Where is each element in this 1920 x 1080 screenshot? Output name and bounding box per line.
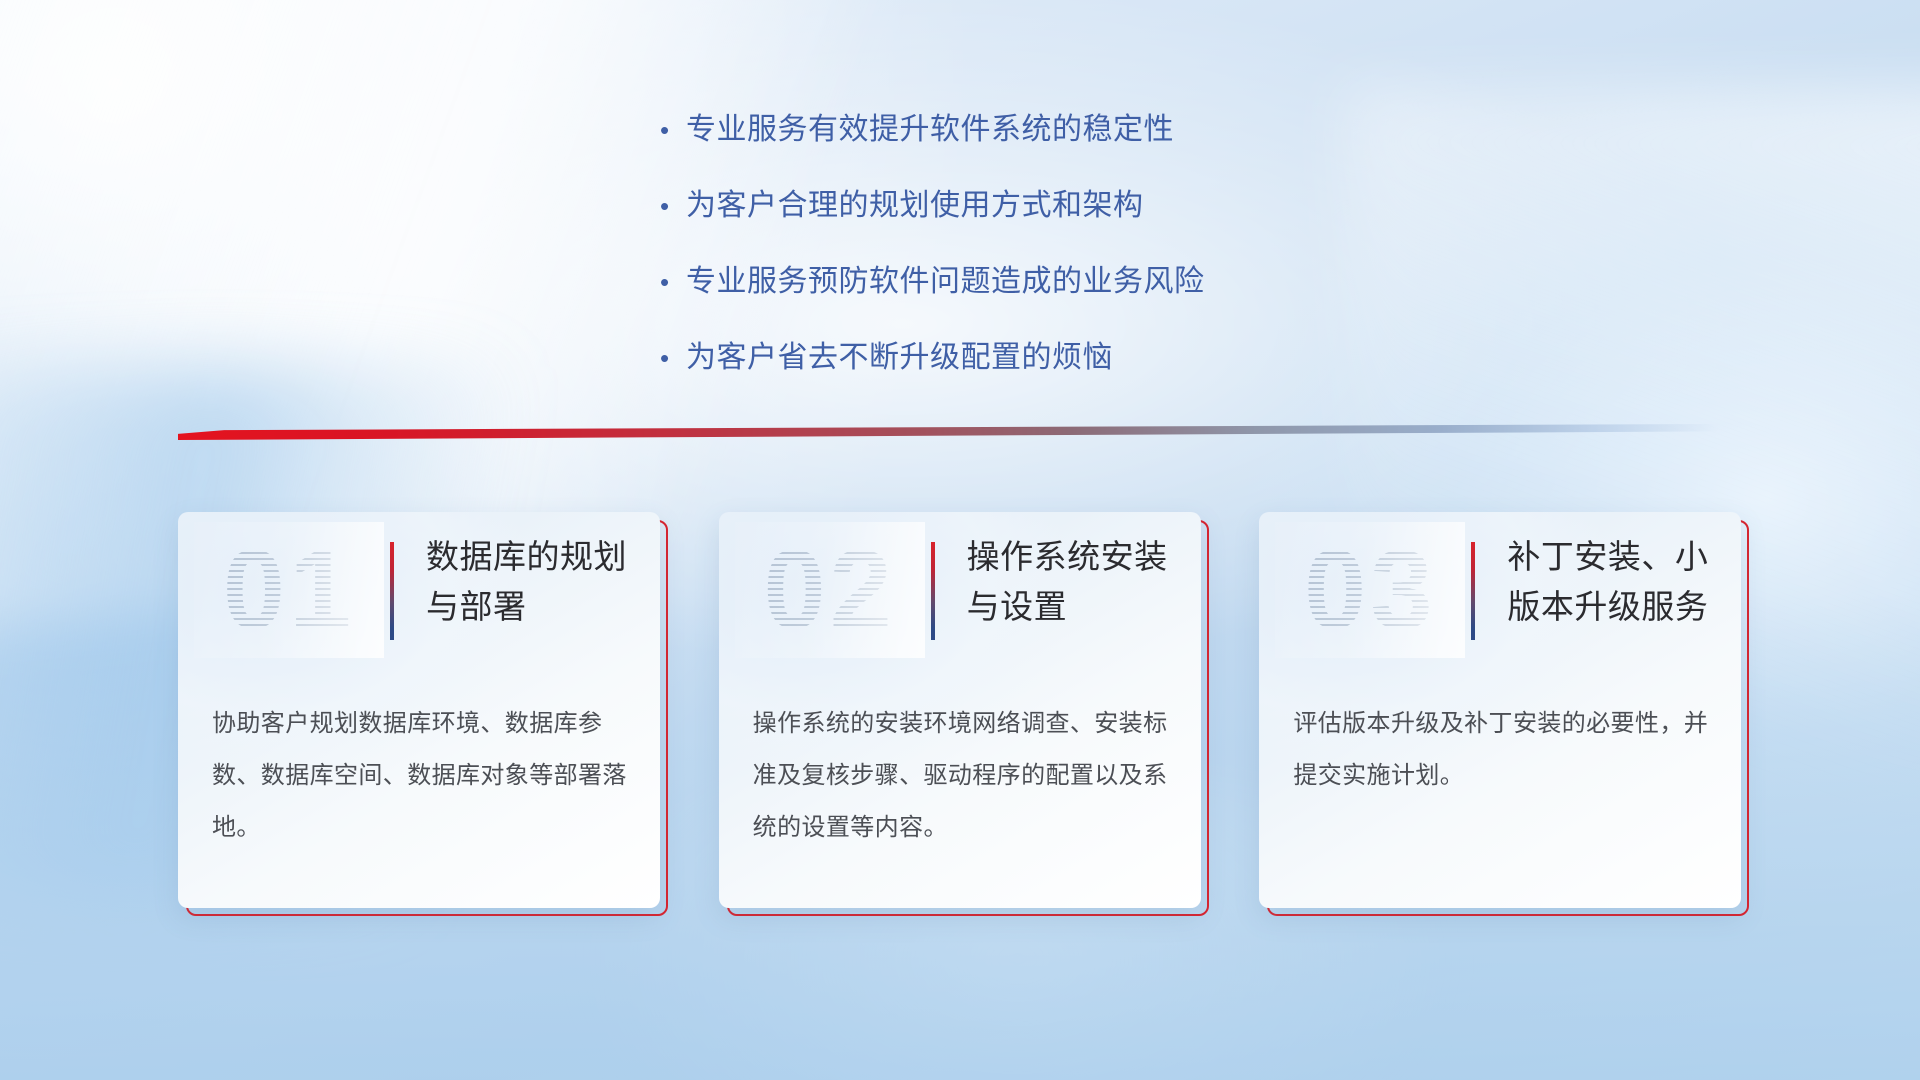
card-description: 操作系统的安装环境网络调查、安装标准及复核步骤、驱动程序的配置以及系统的设置等内… <box>753 698 1173 854</box>
card-title: 补丁安装、小版本升级服务 <box>1507 532 1721 632</box>
card-surface: 03 补丁安装、小版本升级服务 评估版本升级及补丁安装的必要性，并提交实施计划。 <box>1259 512 1741 908</box>
card-title: 数据库的规划与部署 <box>426 532 640 632</box>
slide-canvas: • 专业服务有效提升软件系统的稳定性 • 为客户合理的规划使用方式和架构 • 专… <box>0 0 1920 1080</box>
card-description: 评估版本升级及补丁安装的必要性，并提交实施计划。 <box>1293 698 1713 802</box>
card-number-watermark: 02 <box>735 522 925 658</box>
bullet-label: 专业服务有效提升软件系统的稳定性 <box>686 108 1174 152</box>
divider-taper-line <box>178 424 1718 440</box>
title-accent-bar <box>390 542 394 640</box>
bullet-item: • 专业服务预防软件问题造成的业务风险 <box>660 260 1540 304</box>
card-header: 02 操作系统安装与设置 <box>719 512 1201 670</box>
card-header: 03 补丁安装、小版本升级服务 <box>1259 512 1741 670</box>
bullet-item: • 为客户合理的规划使用方式和架构 <box>660 184 1540 228</box>
title-accent-bar <box>931 542 935 640</box>
card-number-watermark: 03 <box>1275 522 1465 658</box>
card-title: 操作系统安装与设置 <box>967 532 1181 632</box>
service-card[interactable]: 03 补丁安装、小版本升级服务 评估版本升级及补丁安装的必要性，并提交实施计划。 <box>1259 512 1748 916</box>
bullet-label: 为客户省去不断升级配置的烦恼 <box>686 336 1113 380</box>
bullet-label: 专业服务预防软件问题造成的业务风险 <box>686 260 1205 304</box>
bullet-dot-icon: • <box>660 336 686 380</box>
section-divider <box>178 424 1718 440</box>
bullet-dot-icon: • <box>660 260 686 304</box>
bullet-dot-icon: • <box>660 184 686 228</box>
bullet-label: 为客户合理的规划使用方式和架构 <box>686 184 1144 228</box>
card-number-watermark: 01 <box>194 522 384 658</box>
card-surface: 02 操作系统安装与设置 操作系统的安装环境网络调查、安装标准及复核步骤、驱动程… <box>719 512 1201 908</box>
bullet-item: • 为客户省去不断升级配置的烦恼 <box>660 336 1540 380</box>
bullet-item: • 专业服务有效提升软件系统的稳定性 <box>660 108 1540 152</box>
bullet-dot-icon: • <box>660 108 686 152</box>
card-description: 协助客户规划数据库环境、数据库参数、数据库空间、数据库对象等部署落地。 <box>212 698 632 854</box>
card-surface: 01 数据库的规划与部署 协助客户规划数据库环境、数据库参数、数据库空间、数据库… <box>178 512 660 908</box>
card-header: 01 数据库的规划与部署 <box>178 512 660 670</box>
service-card[interactable]: 01 数据库的规划与部署 协助客户规划数据库环境、数据库参数、数据库空间、数据库… <box>178 512 667 916</box>
benefit-bullet-list: • 专业服务有效提升软件系统的稳定性 • 为客户合理的规划使用方式和架构 • 专… <box>660 108 1540 412</box>
title-accent-bar <box>1471 542 1475 640</box>
service-card[interactable]: 02 操作系统安装与设置 操作系统的安装环境网络调查、安装标准及复核步骤、驱动程… <box>719 512 1208 916</box>
service-card-list: 01 数据库的规划与部署 协助客户规划数据库环境、数据库参数、数据库空间、数据库… <box>178 512 1748 922</box>
